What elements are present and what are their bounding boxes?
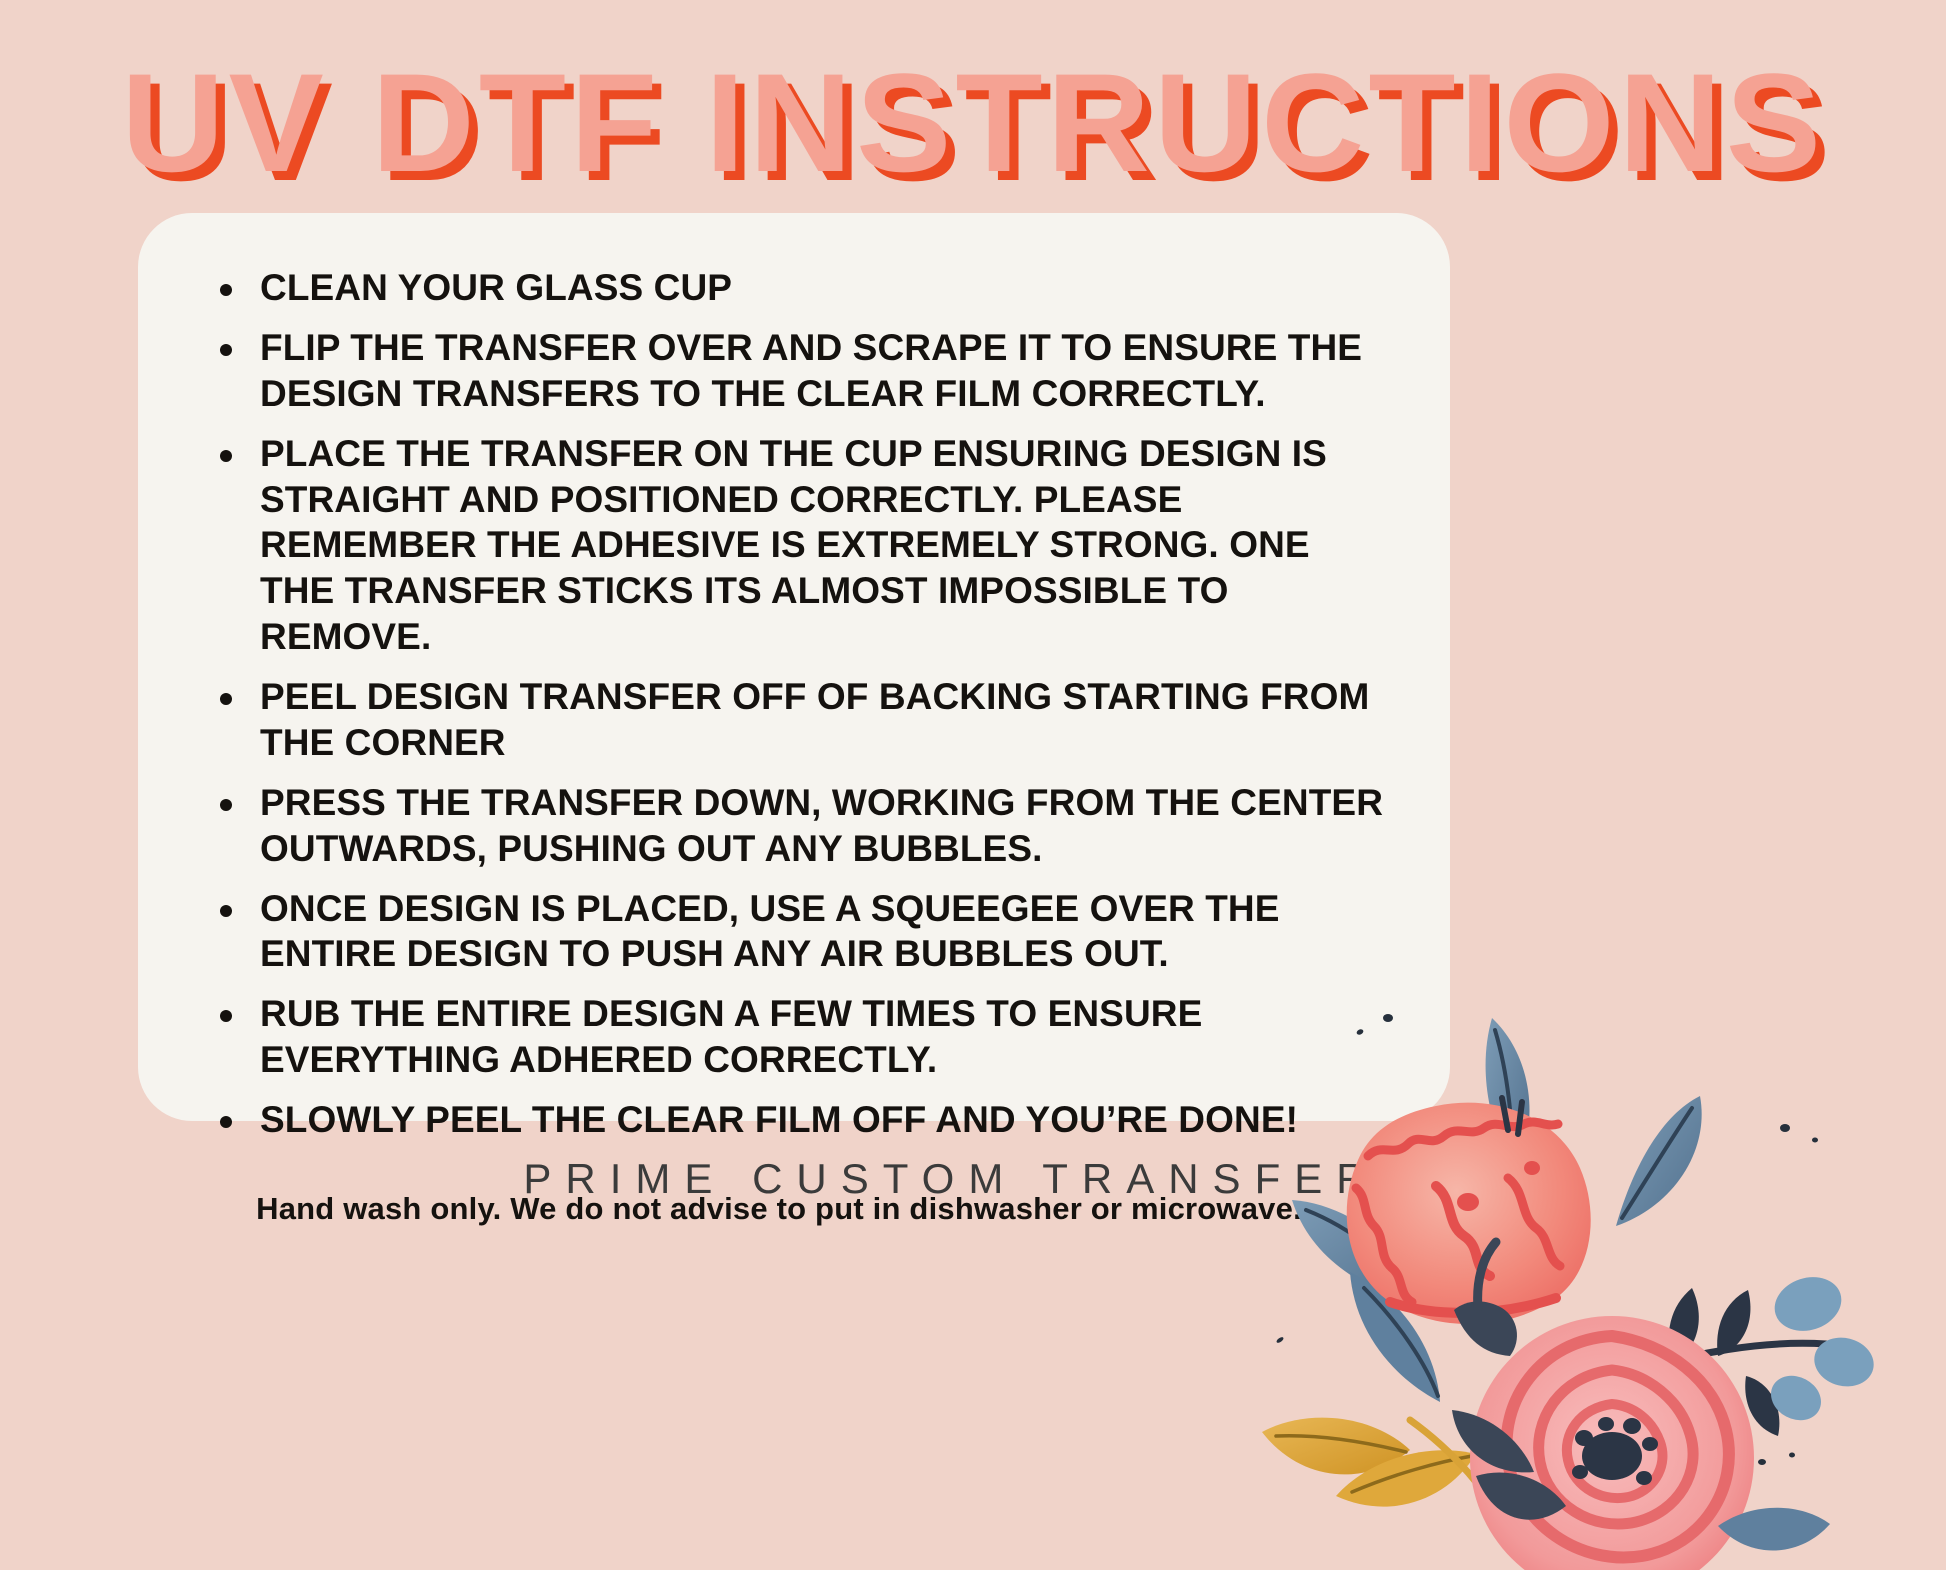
gold-stem <box>1410 1420 1512 1538</box>
page-title: UV DTF INSTRUCTIONS UV DTF INSTRUCTIONS <box>0 48 1946 198</box>
rose-center <box>1572 1417 1658 1485</box>
list-item: Clean your glass cup <box>198 265 1390 311</box>
list-item: Place the transfer on the cup ensuring d… <box>198 431 1390 660</box>
page-title-shadow: UV DTF INSTRUCTIONS <box>130 62 1834 202</box>
list-item: Rub the entire design a few times to ens… <box>198 991 1390 1083</box>
blue-leaf-upper <box>1486 1018 1530 1174</box>
blue-leaf-bottom-right <box>1718 1508 1830 1551</box>
list-item: Flip the transfer over and scrape it to … <box>198 325 1390 417</box>
gold-leaf-bottom <box>1336 1450 1476 1506</box>
list-item: Peel design transfer off of backing star… <box>198 674 1390 766</box>
instruction-steps-list: Clean your glass cup Flip the transfer o… <box>198 265 1390 1143</box>
care-note: Hand wash only. We do not advise to put … <box>198 1191 1390 1227</box>
list-item: Press the transfer down, working from th… <box>198 780 1390 872</box>
list-item: Slowly peel the clear film off and you’r… <box>198 1097 1390 1143</box>
blue-leaf-lower-left <box>1350 1272 1440 1402</box>
page-title-text: UV DTF INSTRUCTIONS <box>121 44 1825 201</box>
pink-rose-flower <box>1452 1316 1754 1570</box>
list-item: Once design is placed, use a squeegee ov… <box>198 886 1390 978</box>
gold-leaf-left <box>1262 1418 1410 1475</box>
navy-sprig <box>1640 1269 1879 1452</box>
instructions-card: Clean your glass cup Flip the transfer o… <box>138 213 1450 1121</box>
